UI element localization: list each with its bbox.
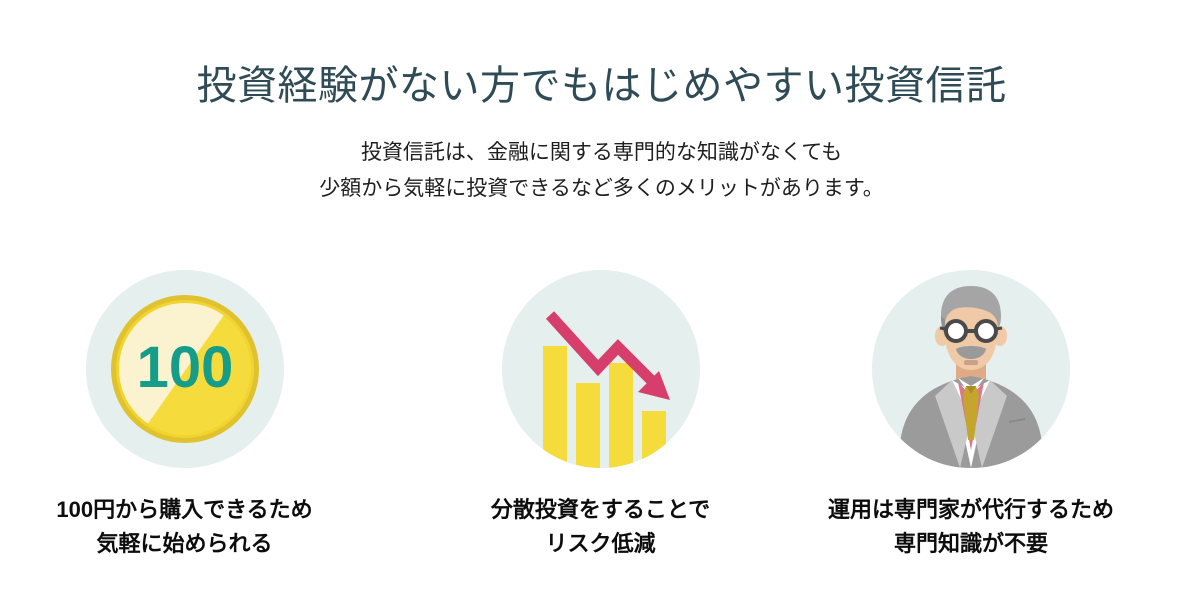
feature-caption-line-1: 分散投資をすることで [491, 493, 710, 527]
page-subtitle-line-2: 少額から気軽に投資できるなど多くのメリットがあります。 [0, 171, 1203, 207]
feature-item-low-minimum: 100 100円から購入できるため 気軽に始められる [0, 270, 401, 561]
page-subtitle: 投資信託は、金融に関する専門的な知識がなくても 少額から気軽に投資できるなど多く… [0, 135, 1203, 206]
feature-caption-line-1: 運用は専門家が代行するため [828, 493, 1114, 527]
feature-caption-low-minimum: 100円から購入できるため 気軽に始められる [56, 493, 312, 561]
page-title: 投資経験がない方でもはじめやすい投資信託 [0, 61, 1203, 111]
feature-item-risk-reduction: 分散投資をすることで リスク低減 [401, 270, 802, 561]
coin-100-yen-icon: 100 [86, 270, 284, 468]
feature-caption-line-2: 専門知識が不要 [828, 527, 1114, 561]
page-subtitle-line-1: 投資信託は、金融に関する専門的な知識がなくても [0, 135, 1203, 171]
feature-item-expert-managed: 運用は専門家が代行するため 専門知識が不要 [802, 270, 1203, 561]
feature-caption-expert-managed: 運用は専門家が代行するため 専門知識が不要 [828, 493, 1114, 561]
feature-caption-line-2: 気軽に始められる [56, 527, 312, 561]
feature-list: 100 100円から購入できるため 気軽に始められる [0, 270, 1203, 561]
feature-highlights-section: 投資経験がない方でもはじめやすい投資信託 投資信託は、金融に関する専門的な知識が… [0, 0, 1203, 600]
coin-value-label: 100 [136, 335, 233, 400]
feature-caption-line-1: 100円から購入できるため [56, 493, 312, 527]
declining-bar-chart-icon [502, 270, 700, 468]
expert-advisor-person-icon [872, 270, 1070, 468]
feature-caption-risk-reduction: 分散投資をすることで リスク低減 [491, 493, 710, 561]
feature-caption-line-2: リスク低減 [491, 527, 710, 561]
